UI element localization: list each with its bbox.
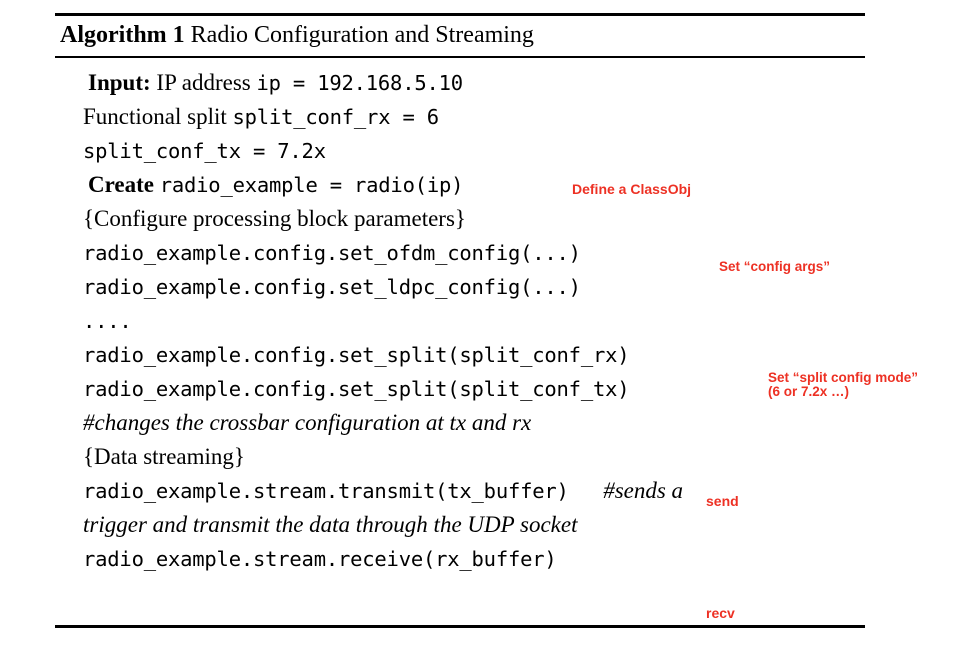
line-input-keyword: Input: — [88, 70, 151, 95]
algorithm-number: Algorithm 1 — [60, 22, 185, 48]
line-set-split-rx-code: radio_example.config.set_split(split_con… — [83, 343, 629, 367]
line-comment-crossbar-text: #changes the crossbar configuration at t… — [83, 410, 531, 435]
annotation-set-config-args: Set “config args” — [719, 260, 830, 274]
line-ellipsis: .... — [0, 304, 972, 338]
line-comment-configure-text: {Configure processing block parameters} — [83, 206, 466, 231]
line-create-code: radio_example = radio(ip) — [160, 173, 464, 197]
line-split-rx: Functional split split_conf_rx = 6 — [0, 100, 972, 134]
line-receive-code: radio_example.stream.receive(rx_buffer) — [83, 547, 557, 571]
algorithm-title: Radio Configuration and Streaming — [185, 22, 534, 48]
annotation-recv: recv — [706, 606, 735, 621]
line-comment-trigger-text: trigger and transmit the data through th… — [83, 512, 577, 537]
line-set-ofdm-code: radio_example.config.set_ofdm_config(...… — [83, 241, 581, 265]
line-split-tx-code: split_conf_tx = 7.2x — [83, 139, 326, 163]
line-split-rx-code: split_conf_rx = 6 — [233, 105, 439, 129]
line-set-ldpc: radio_example.config.set_ldpc_config(...… — [0, 270, 972, 304]
annotation-send-line-1: send — [706, 494, 739, 509]
line-receive: radio_example.stream.receive(rx_buffer) — [0, 542, 972, 576]
line-ellipsis-code: .... — [83, 309, 132, 333]
annotation-recv-line-1: recv — [706, 606, 735, 621]
line-set-split-tx-code: radio_example.config.set_split(split_con… — [83, 377, 629, 401]
annotation-set-split-config-mode-line-1: Set “split config mode” — [768, 371, 918, 385]
line-transmit-code: radio_example.stream.transmit(tx_buffer) — [83, 479, 569, 503]
algorithm-caption: Algorithm 1 Radio Configuration and Stre… — [60, 18, 534, 52]
line-comment-data-streaming: {Data streaming} — [0, 440, 972, 474]
annotation-set-split-config-mode: Set “split config mode” (6 or 7.2x …) — [768, 371, 918, 399]
rule-under-caption — [55, 56, 865, 58]
line-comment-configure: {Configure processing block parameters} — [0, 202, 972, 236]
rule-bottom — [55, 625, 865, 628]
annotation-set-split-config-mode-line-2: (6 or 7.2x …) — [768, 385, 918, 399]
line-input: Input: IP address ip = 192.168.5.10 — [0, 66, 972, 100]
line-comment-trigger: trigger and transmit the data through th… — [0, 508, 972, 542]
line-comment-crossbar: #changes the crossbar configuration at t… — [0, 406, 972, 440]
annotation-define-classobj: Define a ClassObj — [572, 182, 691, 197]
line-comment-data-streaming-text: {Data streaming} — [83, 444, 245, 469]
annotation-set-config-args-line-1: Set “config args” — [719, 260, 830, 274]
line-create: Create radio_example = radio(ip) — [0, 168, 972, 202]
line-transmit-trailing-comment: #sends a — [569, 478, 683, 503]
line-split-tx: split_conf_tx = 7.2x — [0, 134, 972, 168]
rule-top — [55, 13, 865, 16]
line-input-code: ip = 192.168.5.10 — [256, 71, 462, 95]
line-set-ldpc-code: radio_example.config.set_ldpc_config(...… — [83, 275, 581, 299]
line-transmit: radio_example.stream.transmit(tx_buffer)… — [0, 474, 972, 508]
algorithm-body: Input: IP address ip = 192.168.5.10 Func… — [0, 66, 972, 576]
line-split-rx-roman: Functional split — [83, 104, 233, 129]
algorithm-figure: Algorithm 1 Radio Configuration and Stre… — [0, 0, 972, 646]
line-create-keyword: Create — [88, 172, 154, 197]
line-input-roman: IP address — [151, 70, 257, 95]
annotation-define-classobj-line-1: Define a ClassObj — [572, 182, 691, 197]
line-set-split-rx: radio_example.config.set_split(split_con… — [0, 338, 972, 372]
annotation-send: send — [706, 494, 739, 509]
